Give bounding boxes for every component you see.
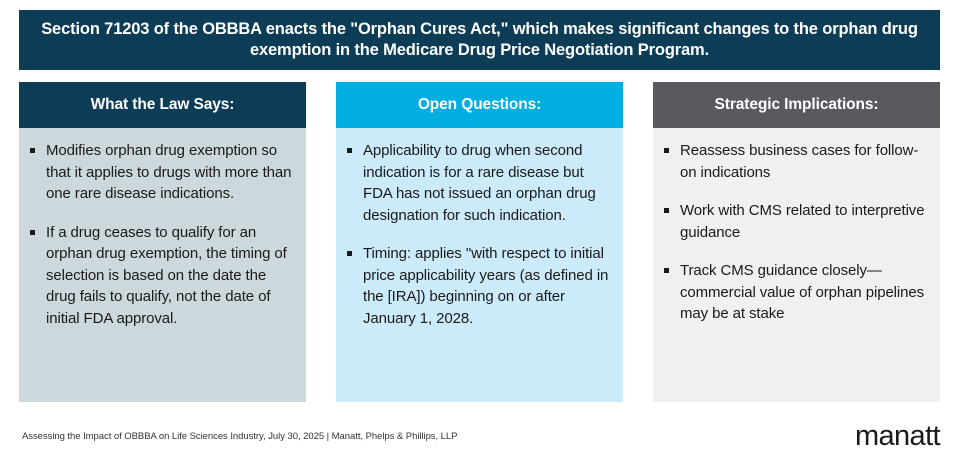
manatt-logo: manatt: [855, 419, 940, 453]
list-item-text: Work with CMS related to interpretive gu…: [680, 202, 924, 241]
square-bullet-icon: [347, 148, 352, 153]
column-body-strategic-implications: Reassess business cases for follow-on in…: [653, 128, 940, 402]
column-header-label: Strategic Implications:: [715, 96, 879, 114]
square-bullet-icon: [347, 251, 352, 256]
bullet-list-what-the-law-says: Modifies orphan drug exemption so that i…: [29, 140, 292, 329]
column-open-questions: Open Questions: Applicability to drug wh…: [336, 82, 623, 402]
list-item-text: Modifies orphan drug exemption so that i…: [46, 142, 291, 202]
list-item: Applicability to drug when second indica…: [346, 140, 609, 226]
column-header-label: Open Questions:: [418, 96, 541, 114]
list-item: Work with CMS related to interpretive gu…: [663, 200, 926, 243]
square-bullet-icon: [30, 148, 35, 153]
column-header-strategic-implications: Strategic Implications:: [653, 82, 940, 128]
list-item-text: Applicability to drug when second indica…: [363, 142, 596, 224]
column-strategic-implications: Strategic Implications: Reassess busines…: [653, 82, 940, 402]
square-bullet-icon: [664, 148, 669, 153]
column-what-the-law-says: What the Law Says: Modifies orphan drug …: [19, 82, 306, 402]
footer-source-text: Assessing the Impact of OBBBA on Life Sc…: [22, 431, 457, 442]
list-item: Timing: applies "with respect to initial…: [346, 243, 609, 329]
bullet-list-strategic-implications: Reassess business cases for follow-on in…: [663, 140, 926, 325]
list-item: Reassess business cases for follow-on in…: [663, 140, 926, 183]
bullet-list-open-questions: Applicability to drug when second indica…: [346, 140, 609, 329]
column-header-open-questions: Open Questions:: [336, 82, 623, 128]
list-item-text: Timing: applies "with respect to initial…: [363, 245, 608, 327]
square-bullet-icon: [664, 208, 669, 213]
list-item-text: Track CMS guidance closely—commercial va…: [680, 262, 924, 322]
column-header-label: What the Law Says:: [91, 96, 235, 114]
slide-title-banner: Section 71203 of the OBBBA enacts the "O…: [19, 10, 940, 70]
list-item: Modifies orphan drug exemption so that i…: [29, 140, 292, 205]
column-body-open-questions: Applicability to drug when second indica…: [336, 128, 623, 402]
column-header-what-the-law-says: What the Law Says:: [19, 82, 306, 128]
list-item: Track CMS guidance closely—commercial va…: [663, 260, 926, 325]
square-bullet-icon: [664, 268, 669, 273]
list-item: If a drug ceases to qualify for an orpha…: [29, 222, 292, 330]
slide-title-text: Section 71203 of the OBBBA enacts the "O…: [35, 19, 924, 61]
list-item-text: If a drug ceases to qualify for an orpha…: [46, 224, 287, 327]
square-bullet-icon: [30, 230, 35, 235]
list-item-text: Reassess business cases for follow-on in…: [680, 142, 918, 181]
column-body-what-the-law-says: Modifies orphan drug exemption so that i…: [19, 128, 306, 402]
